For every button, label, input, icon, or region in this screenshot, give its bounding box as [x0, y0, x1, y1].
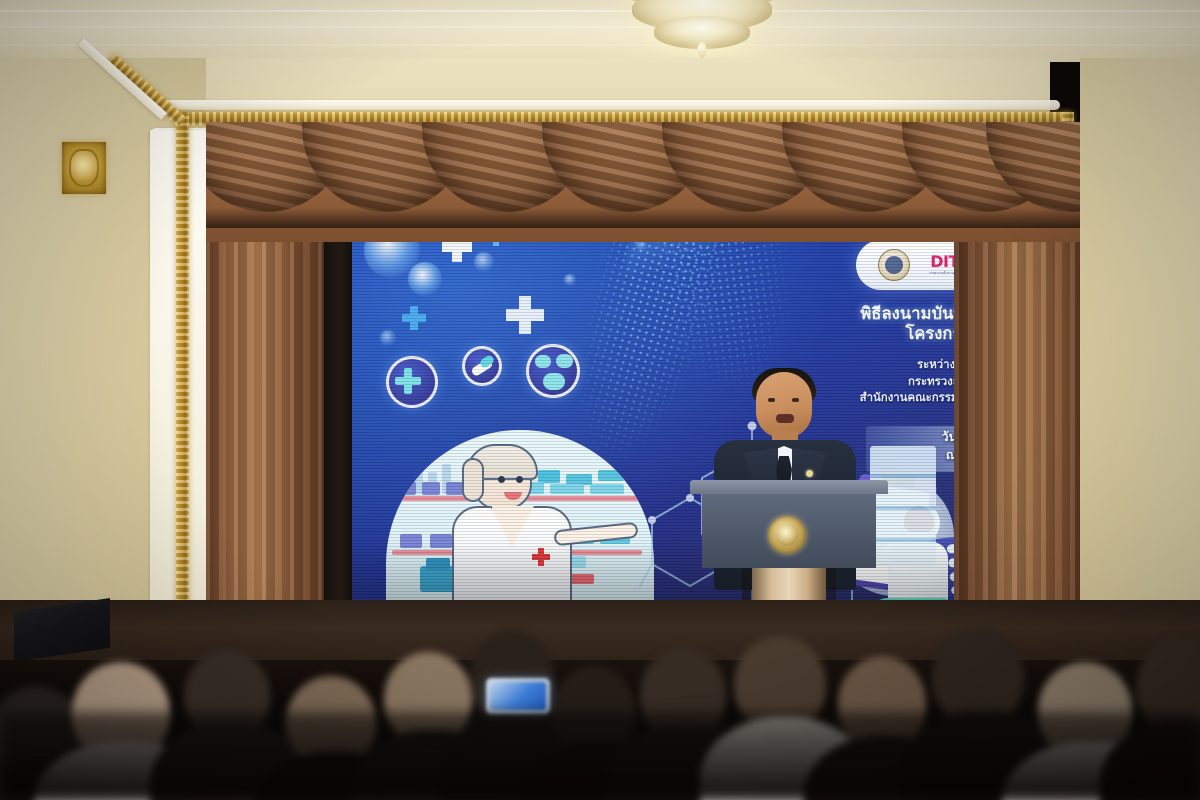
gold-rosette-ornament	[62, 142, 106, 194]
speaker-head	[756, 372, 812, 438]
speaker-eye	[768, 398, 775, 402]
speaker-mouth	[776, 414, 794, 423]
speaker-eye	[792, 398, 799, 402]
wall-right	[1080, 58, 1200, 658]
presentation-stage-photo: DIT กรมการค้าภายใน	[0, 0, 1200, 800]
smartphone-recording	[486, 678, 550, 714]
chandelier-finial	[698, 42, 707, 58]
gold-molding-vertical-left	[176, 112, 189, 672]
phone-screen	[490, 682, 546, 710]
valance-shadow	[206, 208, 1080, 228]
podium-top-surface	[690, 480, 888, 494]
proscenium-white-trim	[150, 100, 1060, 110]
speaker-lapel-pin	[806, 470, 813, 477]
foreground-shadow	[0, 712, 1200, 800]
curtain-valance	[206, 122, 1080, 242]
royal-thai-government-seal	[768, 516, 806, 554]
